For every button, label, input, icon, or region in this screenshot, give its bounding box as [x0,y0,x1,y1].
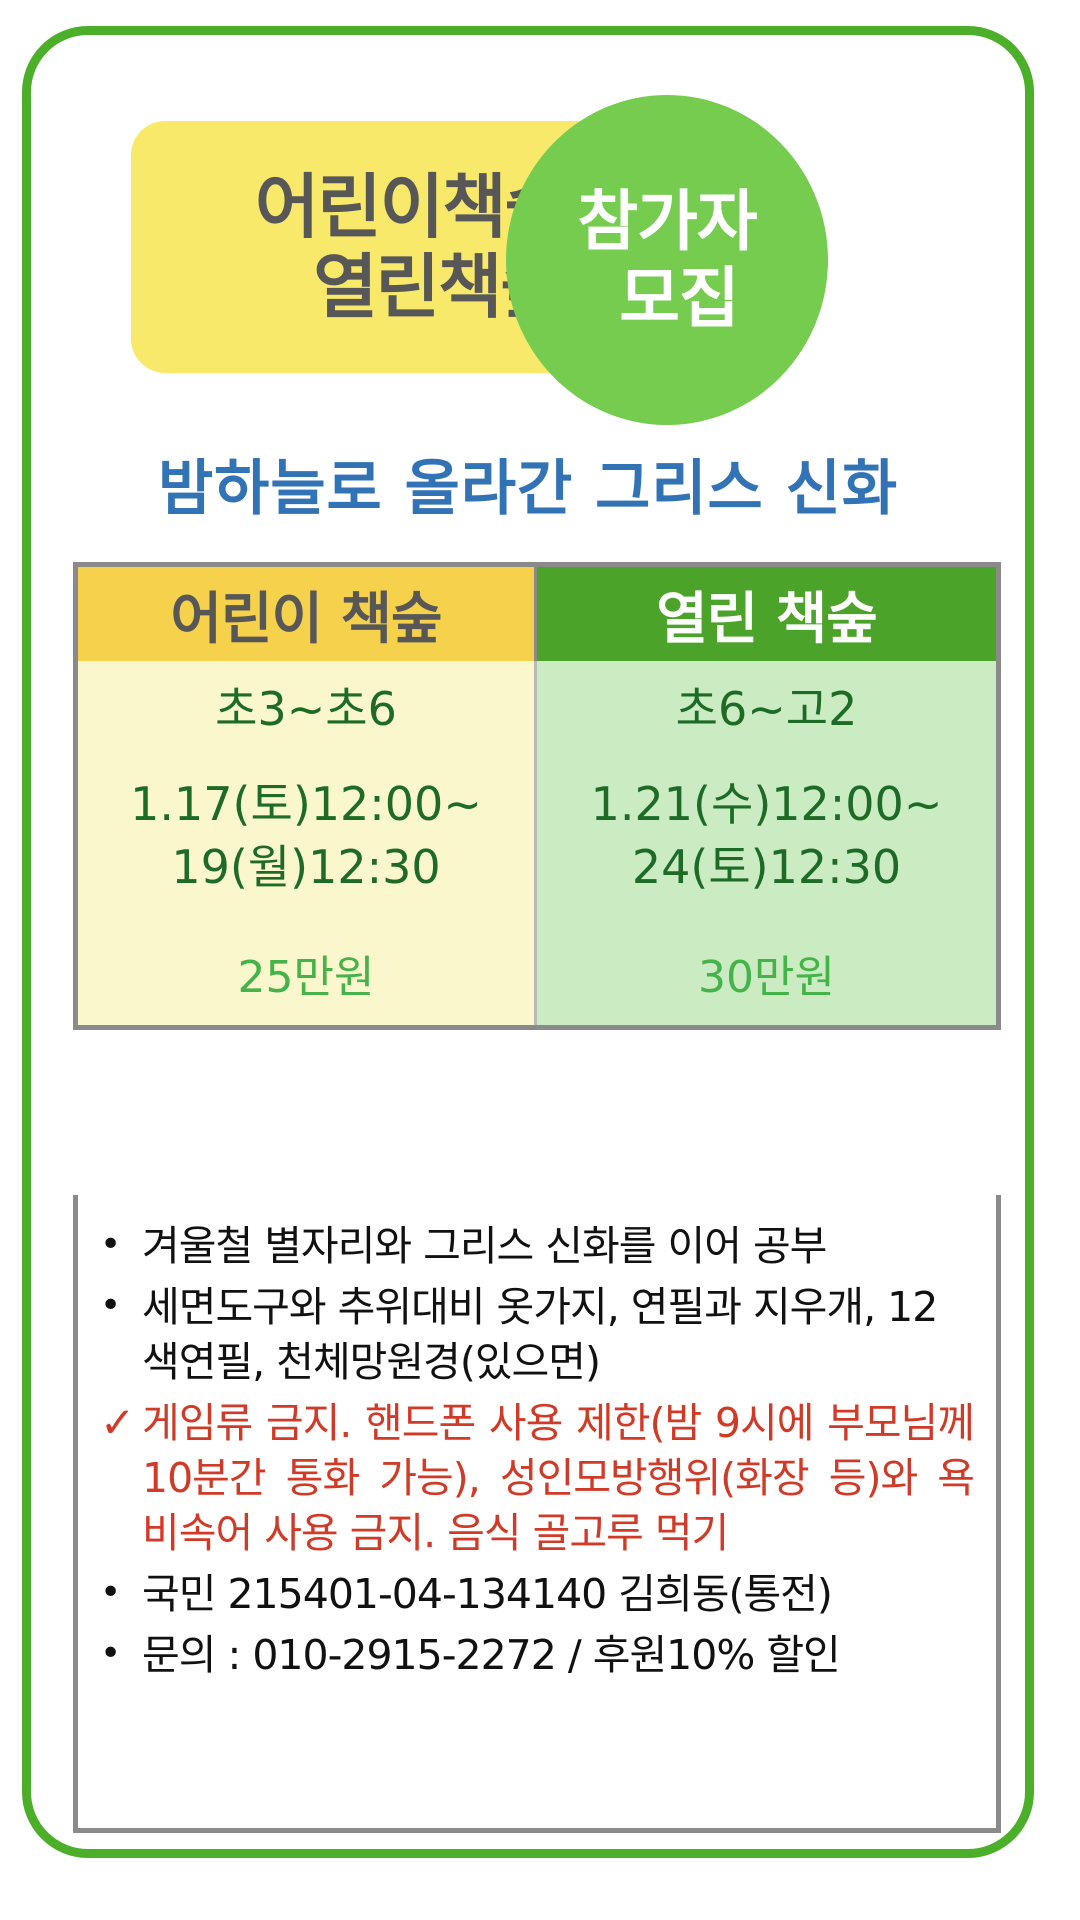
table-row-dates: 1.17(토)12:00~ 19(월)12:30 1.21(수)12:00~ 2… [78,751,996,921]
table-header-children-forest: 어린이 책숲 [78,567,537,661]
bullet-dot-icon: • [100,1219,142,1271]
note-item-supplies: • 세면도구와 추위대비 옷가지, 연필과 지우개, 12색연필, 천체망원경(… [100,1280,974,1390]
dates-children-forest-line-2: 19(월)12:30 [171,836,440,899]
grade-open-forest: 초6~고2 [537,661,996,751]
header-banner: 어린이책숲 열린책숲 참가자 모집 [131,95,819,373]
note-item-study: • 겨울철 별자리와 그리스 신화를 이어 공부 [100,1219,974,1274]
dates-open-forest: 1.21(수)12:00~ 24(토)12:30 [537,751,996,921]
dates-open-forest-line-1: 1.21(수)12:00~ [591,773,943,836]
dates-children-forest: 1.17(토)12:00~ 19(월)12:30 [78,751,537,921]
grade-open-forest-line-1: 초6~고2 [676,673,858,739]
poster-frame: 어린이책숲 열린책숲 참가자 모집 밤하늘로 올라간 그리스 신화 어린이 책숲… [22,26,1034,1858]
bullet-dot-icon: • [100,1628,142,1680]
price-open-forest: 30만원 [537,921,996,1025]
table-header-row: 어린이 책숲 열린 책숲 [78,567,996,661]
price-open-forest-line-1: 30만원 [698,941,835,1005]
note-text-study: 겨울철 별자리와 그리스 신화를 이어 공부 [142,1219,974,1274]
note-text-rules: 게임류 금지. 핸드폰 사용 제한(밤 9시에 부모님께 10분간 통화 가능)… [142,1396,974,1561]
bullet-dot-icon: • [100,1280,142,1332]
note-text-bank-account: 국민 215401-04-134140 김희동(통전) [142,1567,974,1622]
dates-children-forest-line-1: 1.17(토)12:00~ [130,773,482,836]
badge-line-1: 참가자 [577,186,756,257]
table-header-open-forest: 열린 책숲 [537,567,996,661]
table-row-prices: 25만원 30만원 [78,921,996,1025]
note-item-rules: ✓ 게임류 금지. 핸드폰 사용 제한(밤 9시에 부모님께 10분간 통화 가… [100,1396,974,1561]
badge-line-2: 모집 [595,263,738,334]
program-subtitle: 밤하늘로 올라간 그리스 신화 [31,440,1025,527]
grade-children-forest-line-1: 초3~초6 [215,673,397,739]
grade-children-forest: 초3~초6 [78,661,537,751]
note-text-contact: 문의 : 010-2915-2272 / 후원10% 할인 [142,1628,974,1683]
bullet-dot-icon: • [100,1567,142,1619]
price-children-forest-line-1: 25만원 [238,941,375,1005]
note-item-bank-account: • 국민 215401-04-134140 김희동(통전) [100,1567,974,1622]
note-text-supplies: 세면도구와 추위대비 옷가지, 연필과 지우개, 12색연필, 천체망원경(있으… [142,1280,974,1390]
notes-panel: • 겨울철 별자리와 그리스 신화를 이어 공부 • 세면도구와 추위대비 옷가… [73,1195,1001,1833]
dates-open-forest-line-2: 24(토)12:30 [632,836,901,899]
recruitment-badge: 참가자 모집 [506,95,828,425]
program-comparison-table: 어린이 책숲 열린 책숲 초3~초6 초6~고2 1.17(토)12:00~ 1… [73,562,1001,1030]
note-item-contact: • 문의 : 010-2915-2272 / 후원10% 할인 [100,1628,974,1683]
checkmark-icon: ✓ [100,1396,142,1451]
price-children-forest: 25만원 [78,921,537,1025]
table-row-grades: 초3~초6 초6~고2 [78,661,996,751]
